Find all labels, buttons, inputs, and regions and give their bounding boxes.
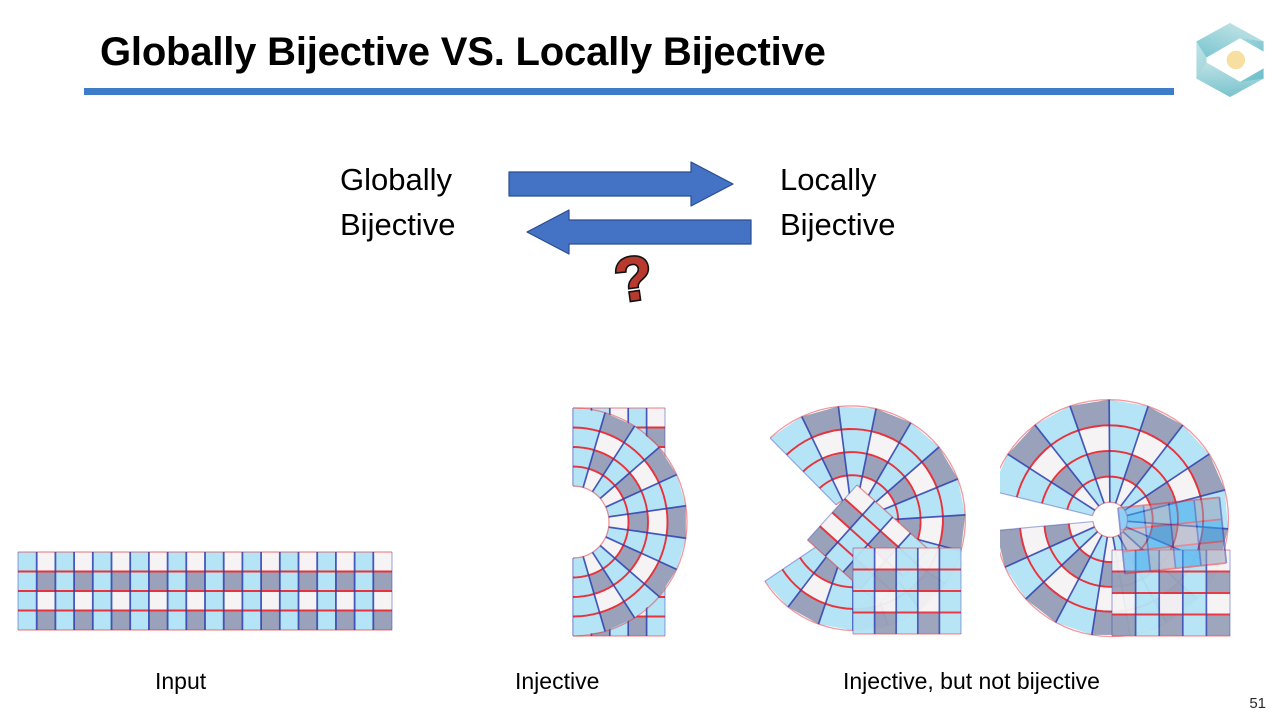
- figure-input-grid: [10, 540, 400, 640]
- svg-text:?: ?: [610, 248, 657, 316]
- locally-bijective-line1: Locally: [780, 158, 895, 203]
- globally-bijective-line2: Bijective: [340, 203, 455, 248]
- figure-injective-shape: [425, 390, 690, 655]
- hexagon-cube-logo: [1188, 18, 1272, 102]
- slide-canvas: Globally Bijective VS. Locally Bijective: [0, 0, 1280, 718]
- page-number: 51: [1249, 695, 1266, 712]
- question-mark-icon: ?: [605, 248, 665, 323]
- bidirectional-arrows: [505, 160, 755, 260]
- locally-bijective-label: Locally Bijective: [780, 158, 895, 248]
- arrow-right-icon: [509, 162, 733, 206]
- title-underline: [84, 88, 1174, 95]
- globally-bijective-line1: Globally: [340, 158, 455, 203]
- page-title: Globally Bijective VS. Locally Bijective: [100, 30, 826, 75]
- caption-input: Input: [155, 668, 206, 695]
- globally-bijective-label: Globally Bijective: [340, 158, 455, 248]
- caption-not-bijective: Injective, but not bijective: [843, 668, 1100, 695]
- figure-not-bijective-b: [1000, 390, 1265, 655]
- locally-bijective-line2: Bijective: [780, 203, 895, 248]
- caption-injective: Injective: [515, 668, 599, 695]
- figure-not-bijective-a: [735, 390, 1000, 655]
